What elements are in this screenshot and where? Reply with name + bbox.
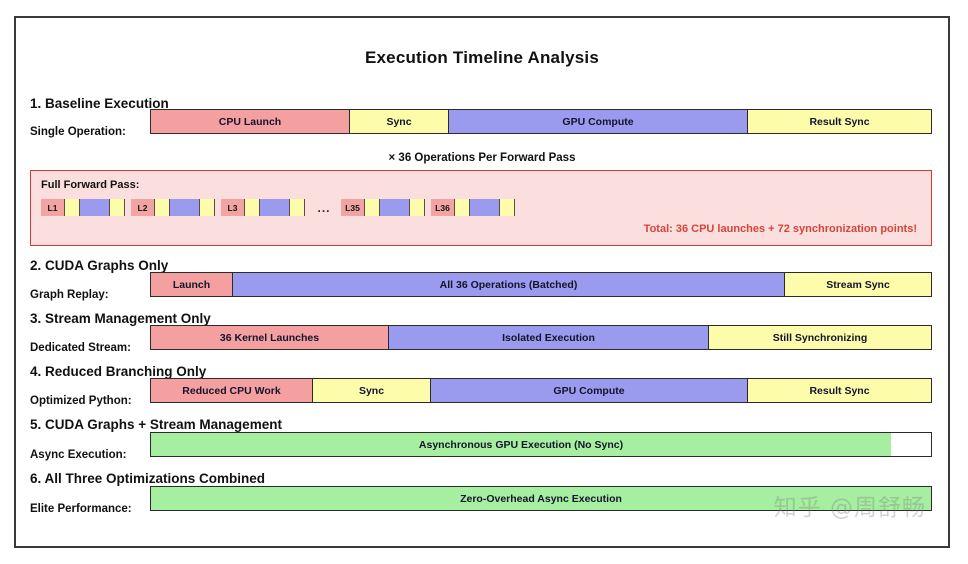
micro-cpu-launch-l1: L1 (41, 199, 65, 216)
segment-still-synchronizing: Still Synchronizing (709, 326, 931, 349)
micro-operation-strip: L1L2L3...L35L36 (41, 199, 921, 216)
segment-gpu-compute-2: GPU Compute (431, 379, 748, 402)
baseline-multiplier-note: × 36 Operations Per Forward Pass (16, 152, 948, 164)
segment-cpu-launch: CPU Launch (151, 110, 350, 133)
timeline-bar-graphs-plus-streams: Asynchronous GPU Execution (No Sync) (150, 432, 932, 457)
row-label-dedicated-stream: Dedicated Stream: (30, 342, 131, 354)
segment-result-sync: Result Sync (748, 110, 931, 133)
full-forward-pass-total: Total: 36 CPU launches + 72 synchronizat… (644, 223, 917, 235)
timeline-bar-reduced-branching: Reduced CPU Work Sync GPU Compute Result… (150, 378, 932, 403)
micro-cpu-launch-l36: L36 (431, 199, 455, 216)
segment-sync-2: Sync (313, 379, 431, 402)
segment-async-gpu-execution: Asynchronous GPU Execution (No Sync) (151, 433, 891, 456)
row-label-async-execution: Async Execution: (30, 449, 127, 461)
row-label-single-operation: Single Operation: (30, 126, 126, 138)
segment-gpu-compute: GPU Compute (449, 110, 748, 133)
micro-cpu-launch-l3: L3 (221, 199, 245, 216)
timeline-bar-cuda-graphs: Launch All 36 Operations (Batched) Strea… (150, 272, 932, 297)
micro-sync-a-l2 (155, 199, 170, 216)
segment-launch: Launch (151, 273, 233, 296)
micro-sync-b-l3 (290, 199, 305, 216)
timeline-bar-stream-management: 36 Kernel Launches Isolated Execution St… (150, 325, 932, 350)
micro-sync-a-l3 (245, 199, 260, 216)
row-label-optimized-python: Optimized Python: (30, 395, 132, 407)
section-heading-2: 2. CUDA Graphs Only (30, 258, 168, 273)
segment-reduced-cpu-work: Reduced CPU Work (151, 379, 313, 402)
segment-sync: Sync (350, 110, 449, 133)
segment-36-kernel-launches: 36 Kernel Launches (151, 326, 389, 349)
micro-gpu-compute-l3 (260, 199, 290, 216)
micro-sync-a-l35 (365, 199, 380, 216)
micro-sync-b-l36 (500, 199, 515, 216)
segment-all-36-ops: All 36 Operations (Batched) (233, 273, 785, 296)
micro-gpu-compute-l2 (170, 199, 200, 216)
segment-idle-tail (891, 433, 931, 456)
micro-gpu-compute-l35 (380, 199, 410, 216)
segment-stream-sync: Stream Sync (785, 273, 931, 296)
section-heading-5: 5. CUDA Graphs + Stream Management (30, 417, 282, 432)
diagram-frame: Execution Timeline Analysis 1. Baseline … (14, 16, 950, 548)
row-label-graph-replay: Graph Replay: (30, 289, 109, 301)
page-title: Execution Timeline Analysis (16, 48, 948, 68)
micro-ellipsis: ... (311, 199, 337, 216)
micro-sync-b-l35 (410, 199, 425, 216)
micro-sync-b-l1 (110, 199, 125, 216)
full-forward-pass-panel: Full Forward Pass: L1L2L3...L35L36 Total… (30, 170, 932, 246)
micro-gpu-compute-l1 (80, 199, 110, 216)
section-heading-3: 3. Stream Management Only (30, 311, 211, 326)
micro-sync-a-l36 (455, 199, 470, 216)
section-heading-4: 4. Reduced Branching Only (30, 364, 206, 379)
segment-isolated-execution: Isolated Execution (389, 326, 709, 349)
section-heading-6: 6. All Three Optimizations Combined (30, 471, 265, 486)
micro-cpu-launch-l2: L2 (131, 199, 155, 216)
watermark: 知乎 @周舒畅 (774, 488, 926, 522)
timeline-bar-baseline: CPU Launch Sync GPU Compute Result Sync (150, 109, 932, 134)
full-forward-pass-title: Full Forward Pass: (41, 179, 139, 191)
micro-gpu-compute-l36 (470, 199, 500, 216)
row-label-elite-performance: Elite Performance: (30, 503, 132, 515)
micro-sync-b-l2 (200, 199, 215, 216)
micro-sync-a-l1 (65, 199, 80, 216)
micro-cpu-launch-l35: L35 (341, 199, 365, 216)
segment-result-sync-2: Result Sync (748, 379, 931, 402)
section-heading-1: 1. Baseline Execution (30, 96, 169, 111)
